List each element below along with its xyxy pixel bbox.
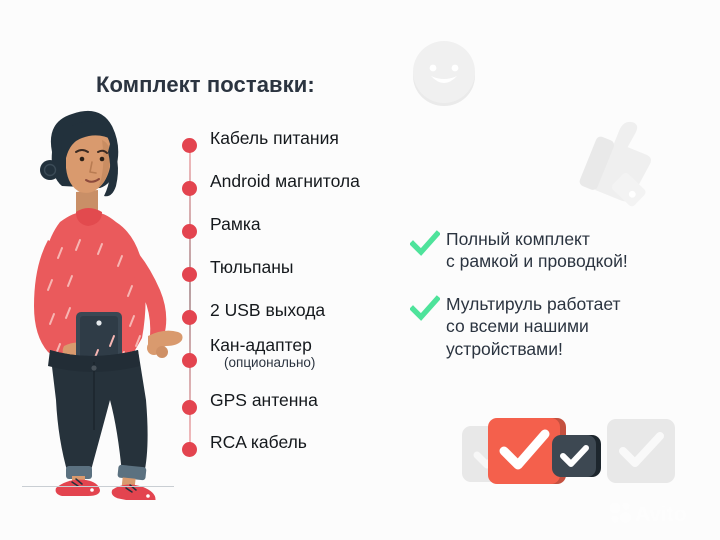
list-item-label: Кан-адаптер (опционально) (210, 335, 315, 371)
list-item-label: RCA кабель (210, 432, 307, 453)
bullet-dot-icon (182, 138, 197, 153)
bullet-dot-icon (182, 353, 197, 368)
benefit-text: Полный комплект с рамкой и проводкой! (446, 228, 628, 273)
list-item-main-text: Кан-адаптер (210, 335, 312, 355)
checkbox-checked-gray-icon (607, 419, 675, 483)
list-item-label: GPS антенна (210, 390, 318, 411)
list-item-label: Тюльпаны (210, 257, 293, 278)
list-item-label: Android магнитола (210, 171, 360, 192)
bullet-dot-icon (182, 400, 197, 415)
checkbox-checked-coral-icon (488, 418, 560, 484)
ground-line (22, 486, 174, 487)
avito-watermark-label: Avito (635, 503, 687, 526)
checkbox-checked-navy-icon (552, 435, 596, 477)
package-contents-list: Кабель питания Android магнитола Рамка Т… (178, 138, 438, 458)
bullet-dot-icon (182, 310, 197, 325)
smiley-face-icon (408, 38, 480, 110)
bullet-dot-icon (182, 224, 197, 239)
bullet-dot-icon (182, 267, 197, 282)
benefit-line-1: Полный комплект (446, 229, 590, 249)
woman-pointing-illustration (14, 100, 186, 500)
green-checkmark-icon (410, 230, 440, 260)
green-checkmark-icon (410, 295, 440, 325)
benefit-line-3: устройствами! (446, 339, 563, 359)
benefit-line-2: со всеми нашими (446, 316, 589, 336)
list-item-label: 2 USB выхода (210, 300, 325, 321)
list-item-label: Кабель питания (210, 128, 339, 149)
page-title: Комплект поставки: (96, 72, 315, 98)
benefit-line-2: с рамкой и проводкой! (446, 251, 628, 271)
benefit-text: Мультируль работает со всеми нашими устр… (446, 293, 621, 360)
avito-watermark: Avito (608, 500, 708, 526)
product-listing-image: Комплект поставки: Кабель питания Androi… (0, 0, 720, 540)
benefit-line-1: Мультируль работает (446, 294, 621, 314)
thumbs-up-icon (578, 112, 666, 210)
bullet-dot-icon (182, 181, 197, 196)
bullet-dot-icon (182, 442, 197, 457)
checkbox-illustration-group (462, 412, 642, 492)
list-item-sub-text: (опционально) (210, 355, 315, 371)
list-item-label: Рамка (210, 214, 261, 235)
